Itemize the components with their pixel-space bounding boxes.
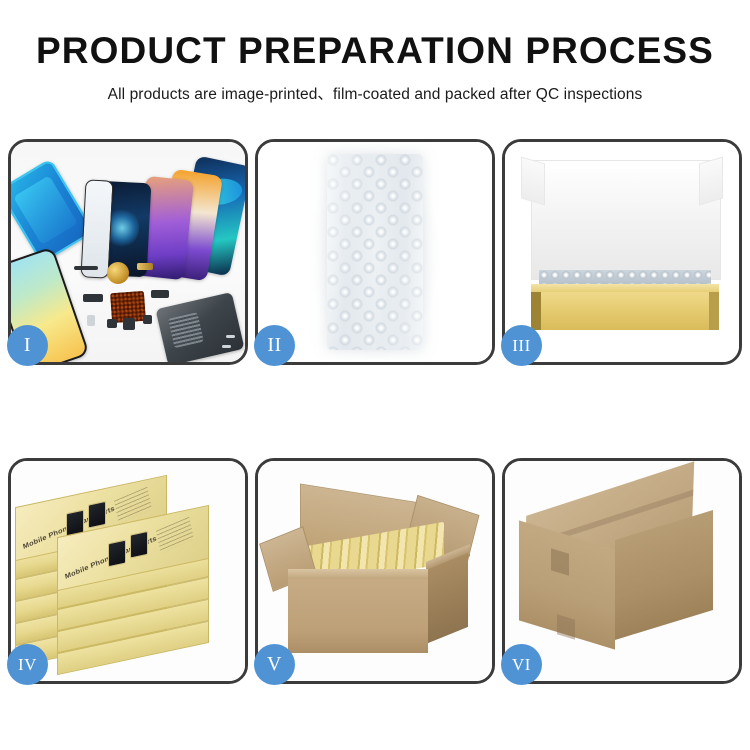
part-screw-2 [226, 335, 235, 338]
open-flat-box-illustration [505, 142, 739, 362]
part-tray [87, 315, 95, 326]
step-2-image [258, 142, 492, 362]
box-side-left [531, 292, 541, 330]
process-steps-grid: I II [8, 139, 742, 684]
process-step-2[interactable]: II [255, 139, 495, 365]
process-step-6[interactable]: VI [502, 458, 742, 684]
part-strip [74, 266, 98, 270]
header: PRODUCT PREPARATION PROCESS All products… [0, 0, 750, 104]
box-screen-graphic [108, 539, 126, 567]
step-5-image [258, 461, 492, 681]
step-6-image [505, 461, 739, 681]
part-connector [137, 263, 153, 270]
process-step-3[interactable]: III [502, 139, 742, 365]
page-subtitle: All products are image-printed、film-coat… [0, 71, 750, 104]
box-spec-text-lines [156, 517, 194, 554]
bubble-wrap-pouch [327, 154, 423, 350]
sealed-carton-illustration [505, 461, 739, 681]
step-number-badge: I [7, 325, 48, 366]
bubble-wrap-illustration [258, 142, 492, 362]
box-side-right [709, 292, 719, 330]
stacked-boxes-illustration: Mobile Phone Spare Parts Mobile Pho [11, 461, 245, 681]
box-lid-white [531, 160, 721, 280]
box-screen-graphic [130, 531, 148, 559]
process-step-1[interactable]: I [8, 139, 248, 365]
step-number-badge: II [254, 325, 295, 366]
carton-front-panel [288, 579, 428, 653]
part-button [143, 315, 152, 324]
phones-and-spare-parts-illustration [11, 142, 245, 362]
step-1-image [11, 142, 245, 362]
small-parts-group [11, 142, 245, 362]
part-flex-cable [83, 294, 103, 302]
step-number-badge: VI [501, 644, 542, 685]
page-title: PRODUCT PREPARATION PROCESS [0, 0, 750, 71]
step-number-badge: III [501, 325, 542, 366]
step-4-image: Mobile Phone Spare Parts Mobile Pho [11, 461, 245, 681]
box-stack: Mobile Phone Spare Parts Mobile Pho [15, 479, 241, 671]
carton-tab-lower [557, 614, 575, 640]
step-number-badge: V [254, 644, 295, 685]
step-3-image [505, 142, 739, 362]
part-camera [107, 319, 117, 328]
part-screw [222, 345, 231, 348]
product-preparation-infographic: PRODUCT PREPARATION PROCESS All products… [0, 0, 750, 750]
box-lid-flap-right [699, 157, 723, 206]
box-front-panel [531, 292, 719, 330]
step-number-badge: IV [7, 644, 48, 685]
carton-side-panel [428, 553, 468, 643]
part-flex-cable-2 [151, 290, 169, 298]
process-step-4[interactable]: Mobile Phone Spare Parts Mobile Pho [8, 458, 248, 684]
process-step-5[interactable]: V [255, 458, 495, 684]
box-lid-flap-left [521, 157, 545, 206]
open-carton-illustration [258, 461, 492, 681]
part-speaker [123, 318, 135, 330]
box-screen-graphic [88, 501, 106, 529]
